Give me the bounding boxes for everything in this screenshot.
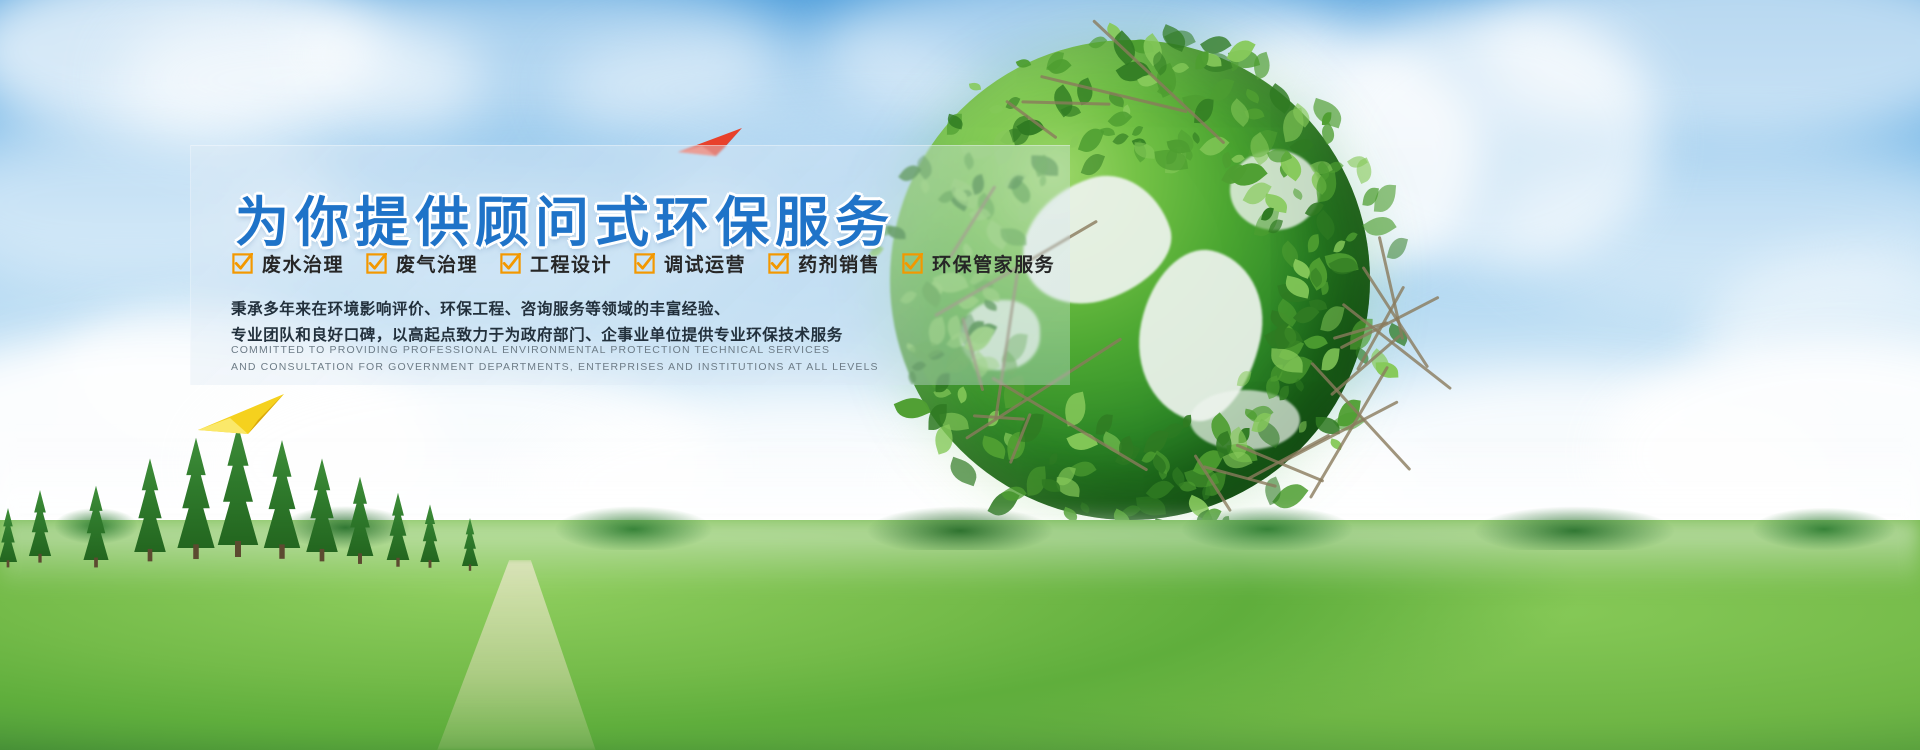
check-item-label: 废水治理 bbox=[262, 250, 344, 277]
checkbox-checked-icon bbox=[366, 253, 387, 274]
banner-stage: 为你提供顾问式环保服务 废水治理废气治理工程设计调试运营药剂销售环保管家服务 秉… bbox=[0, 0, 1920, 750]
checkbox-checked-icon bbox=[634, 253, 655, 274]
english-subtitle: COMMITTED TO PROVIDING PROFESSIONAL ENVI… bbox=[231, 342, 879, 376]
page-title: 为你提供顾问式环保服务 bbox=[235, 178, 895, 257]
yellow-paper-plane-icon bbox=[196, 390, 288, 438]
check-item-label: 工程设计 bbox=[530, 250, 612, 277]
checkbox-checked-icon bbox=[902, 253, 923, 274]
check-item[interactable]: 工程设计 bbox=[500, 250, 612, 277]
checkbox-checked-icon bbox=[768, 253, 789, 274]
english-line: COMMITTED TO PROVIDING PROFESSIONAL ENVI… bbox=[231, 342, 879, 359]
check-item[interactable]: 环保管家服务 bbox=[902, 250, 1055, 277]
english-line: AND CONSULTATION FOR GOVERNMENT DEPARTME… bbox=[231, 359, 879, 376]
description-line: 秉承多年来在环境影响评价、环保工程、咨询服务等领域的丰富经验、 bbox=[231, 297, 843, 323]
checkbox-checked-icon bbox=[500, 253, 521, 274]
checkbox-checked-icon bbox=[232, 253, 253, 274]
check-item-label: 调试运营 bbox=[664, 250, 746, 277]
check-item-label: 废气治理 bbox=[396, 250, 478, 277]
check-item[interactable]: 废水治理 bbox=[232, 250, 344, 277]
check-item-label: 药剂销售 bbox=[798, 250, 880, 277]
check-item[interactable]: 调试运营 bbox=[634, 250, 746, 277]
check-item[interactable]: 废气治理 bbox=[366, 250, 478, 277]
service-checklist: 废水治理废气治理工程设计调试运营药剂销售环保管家服务 bbox=[232, 250, 1055, 277]
check-item[interactable]: 药剂销售 bbox=[768, 250, 880, 277]
check-item-label: 环保管家服务 bbox=[932, 250, 1055, 277]
